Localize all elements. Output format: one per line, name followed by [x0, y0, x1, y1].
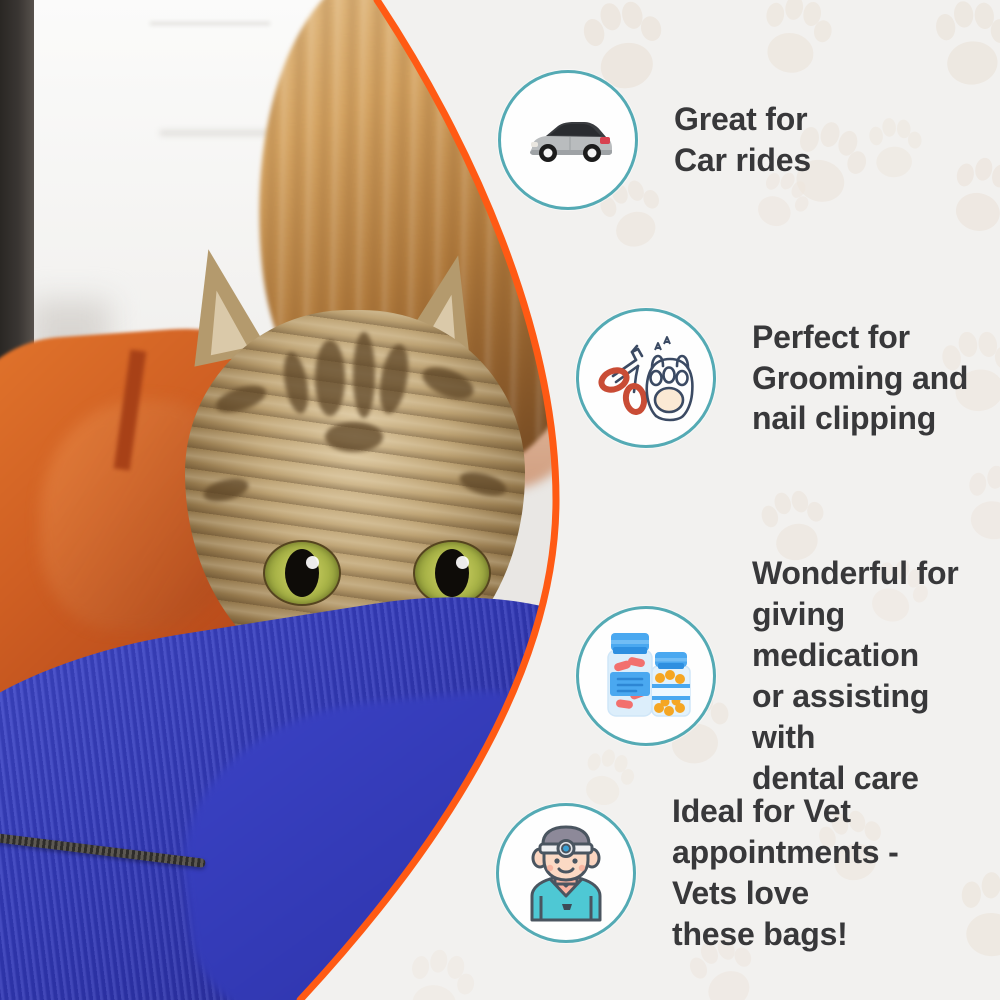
cat-cheek-stripe	[457, 468, 509, 500]
feature-icon-circle	[498, 70, 638, 210]
cat-eye-glint	[306, 556, 319, 569]
veterinarian-icon	[518, 824, 614, 922]
cat-eye-left	[263, 540, 341, 606]
paw-print-decoration	[950, 870, 1000, 967]
cat-brow-stripe	[325, 422, 383, 452]
feature-item-car-rides[interactable]: Great for Car rides	[498, 70, 811, 210]
cat-cheek-stripe	[213, 381, 269, 418]
feature-label: Ideal for Vet appointments - Vets love t…	[672, 791, 899, 955]
paw-print-decoration	[955, 461, 1000, 550]
car-icon	[522, 115, 614, 165]
feature-item-vet[interactable]: Ideal for Vet appointments - Vets love t…	[496, 791, 899, 955]
photo-wall-detail	[150, 22, 270, 25]
feature-icon-circle	[496, 803, 636, 943]
paw-print-decoration	[396, 944, 482, 1000]
cat-eye-right	[413, 540, 491, 606]
feature-item-grooming[interactable]: Perfect for Grooming and nail clipping	[576, 308, 968, 448]
paw-print-decoration	[939, 151, 1000, 244]
cat-eye-glint	[456, 556, 469, 569]
paw-print-decoration	[926, 0, 1000, 96]
pill-bottles-icon	[596, 628, 696, 724]
cat-forehead-stripe	[315, 340, 345, 416]
cat-forehead-stripe	[375, 342, 413, 415]
product-feature-infographic: Great for Car rides	[0, 0, 1000, 1000]
feature-label: Great for Car rides	[674, 99, 811, 181]
feature-icon-circle	[576, 308, 716, 448]
cat-forehead-stripe	[280, 351, 312, 416]
feature-item-medication[interactable]: Wonderful for giving medication or assis…	[576, 553, 1000, 799]
cat-forehead-stripe	[353, 332, 375, 418]
nail-clippers-paw-icon	[598, 332, 694, 424]
cat-cheek-stripe	[418, 361, 478, 405]
cat-cheek-stripe	[201, 475, 250, 506]
feature-icon-circle	[576, 606, 716, 746]
paw-print-decoration	[863, 116, 927, 185]
feature-label: Wonderful for giving medication or assis…	[752, 553, 1000, 799]
feature-label: Perfect for Grooming and nail clipping	[752, 317, 968, 440]
